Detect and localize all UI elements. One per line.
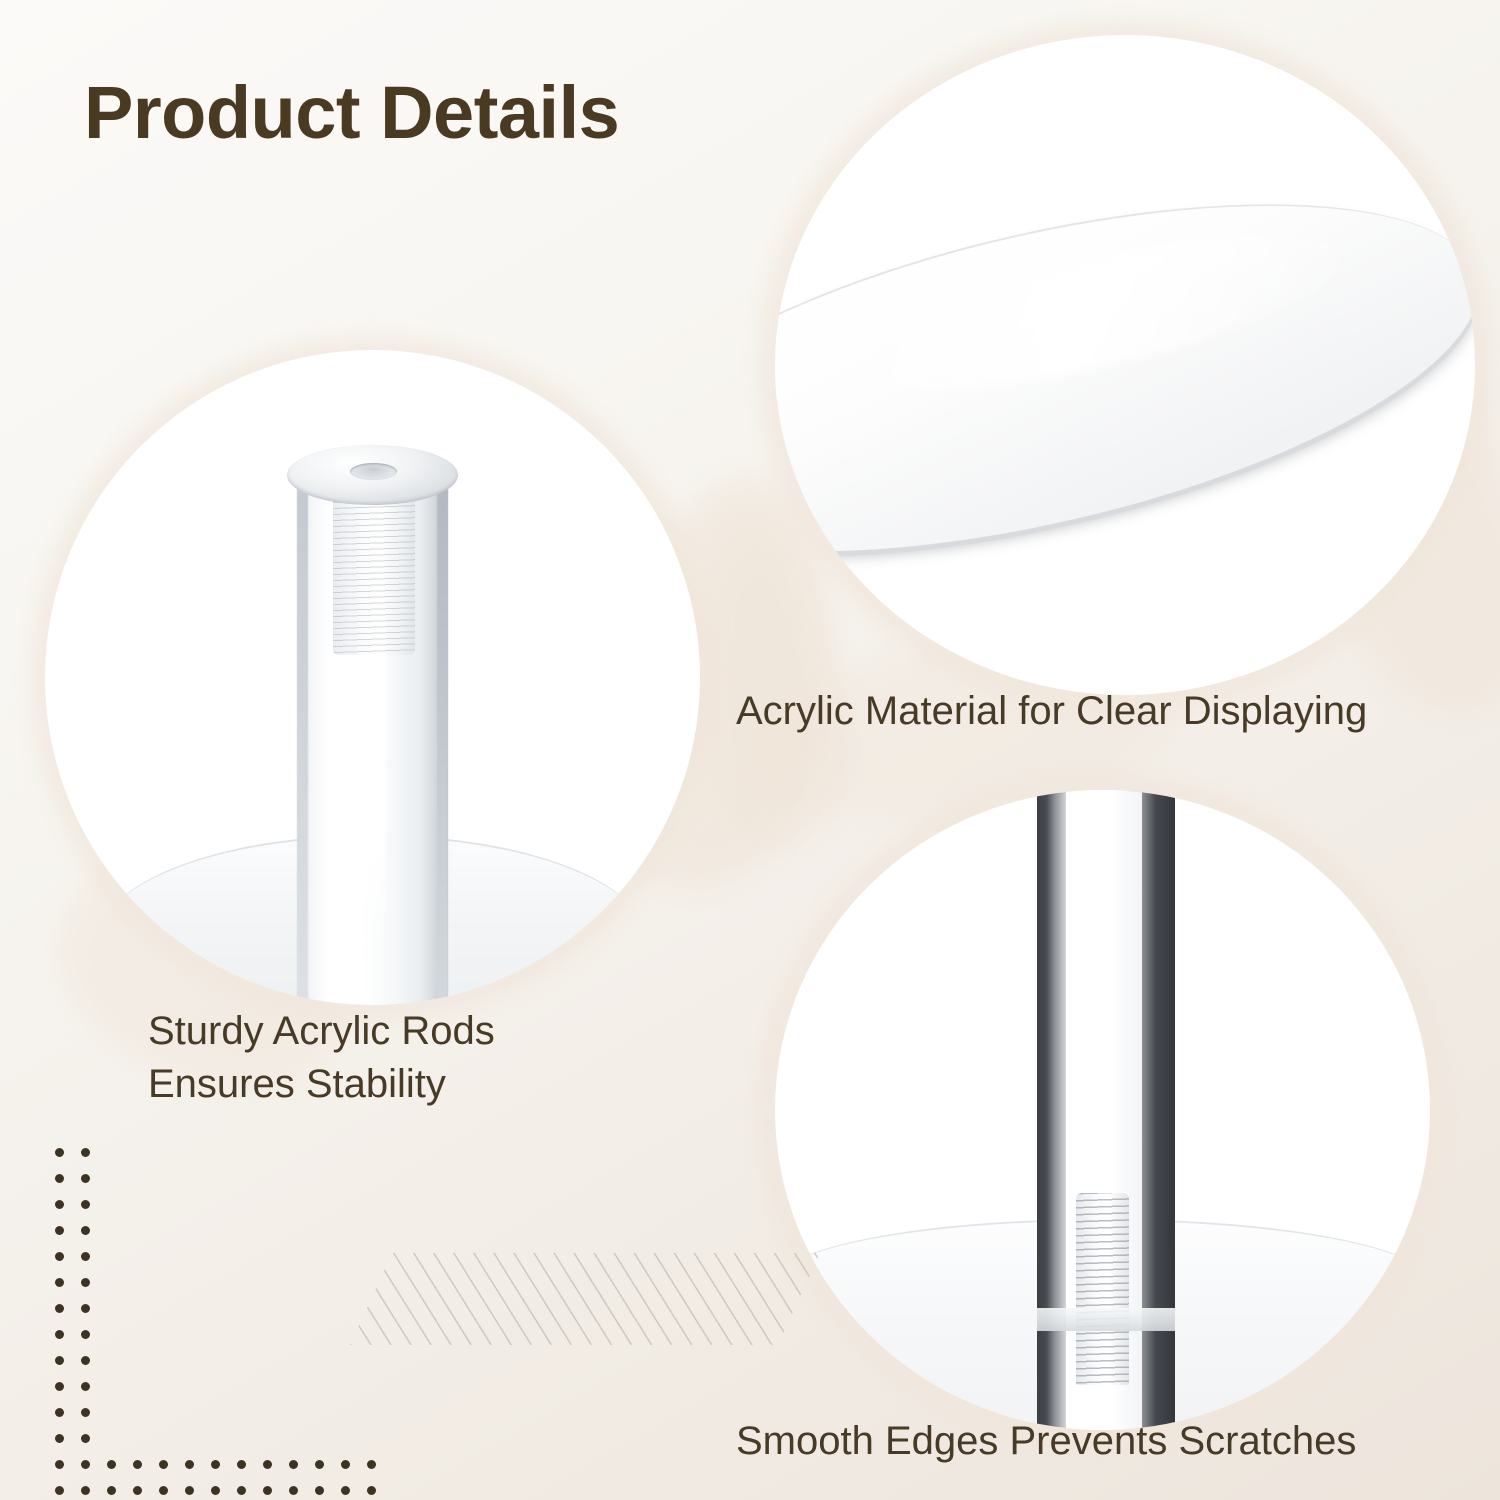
decorative-dot [55, 1148, 64, 1157]
decorative-dot [367, 1486, 376, 1495]
decorative-dot [55, 1408, 64, 1417]
decorative-dot [107, 1486, 116, 1495]
rod-left-edge [297, 465, 307, 1005]
decorative-dot [81, 1148, 90, 1157]
rod-internal-thread [333, 484, 415, 654]
product-details-infographic: Product Details Acrylic Material for Cle… [0, 0, 1500, 1500]
decorative-dot [289, 1460, 298, 1469]
threaded-screw [1076, 1193, 1128, 1385]
decorative-dot [81, 1486, 90, 1495]
acrylic-disc-illustration [775, 35, 1475, 695]
decorative-dot [263, 1486, 272, 1495]
decorative-dot [81, 1460, 90, 1469]
decorative-dot [367, 1460, 376, 1469]
feature-image-smooth-edges [775, 790, 1430, 1430]
decorative-dot [159, 1486, 168, 1495]
decorative-dot [211, 1486, 220, 1495]
decorative-dot [55, 1434, 64, 1443]
decorative-dot [159, 1460, 168, 1469]
decorative-dot [55, 1200, 64, 1209]
decorative-dot [81, 1382, 90, 1391]
feature-image-sturdy-rods [45, 350, 700, 1005]
feature-caption-acrylic-material: Acrylic Material for Clear Displaying [736, 685, 1367, 738]
decorative-dot [185, 1486, 194, 1495]
screw-collar [1037, 1308, 1175, 1330]
decorative-dot [237, 1460, 246, 1469]
decorative-dot [237, 1486, 246, 1495]
decorative-dot [341, 1486, 350, 1495]
decorative-dot [263, 1460, 272, 1469]
decorative-dot [341, 1460, 350, 1469]
decorative-dot [55, 1356, 64, 1365]
decorative-dot [81, 1304, 90, 1313]
decorative-dot [81, 1330, 90, 1339]
decorative-dot [81, 1252, 90, 1261]
decorative-dot [81, 1356, 90, 1365]
decorative-dot [81, 1278, 90, 1287]
decorative-dot [289, 1486, 298, 1495]
decorative-dot [81, 1200, 90, 1209]
decorative-dot [107, 1460, 116, 1469]
feature-caption-sturdy-rods: Sturdy Acrylic Rods Ensures Stability [148, 1005, 495, 1111]
feature-image-acrylic-material [775, 35, 1475, 695]
decorative-dot [133, 1460, 142, 1469]
feature-caption-smooth-edges: Smooth Edges Prevents Scratches [736, 1415, 1356, 1468]
decorative-dot [55, 1460, 64, 1469]
decorative-dot [55, 1278, 64, 1287]
decorative-dot [81, 1408, 90, 1417]
decorative-dot [81, 1434, 90, 1443]
decorative-dot [55, 1226, 64, 1235]
decorative-dot [185, 1460, 194, 1469]
decorative-dot [55, 1486, 64, 1495]
decorative-dot [55, 1304, 64, 1313]
decorative-dot [81, 1174, 90, 1183]
rod-right-edge [437, 465, 448, 1005]
decorative-hatch-pattern [350, 1253, 820, 1345]
decorative-dot [55, 1330, 64, 1339]
decorative-dot [315, 1460, 324, 1469]
decorative-dot [55, 1174, 64, 1183]
decorative-dot [211, 1460, 220, 1469]
decorative-dot [55, 1252, 64, 1261]
page-title: Product Details [84, 72, 619, 155]
decorative-dot [315, 1486, 324, 1495]
decorative-dot [133, 1486, 142, 1495]
decorative-dot [55, 1382, 64, 1391]
decorative-dot [81, 1226, 90, 1235]
